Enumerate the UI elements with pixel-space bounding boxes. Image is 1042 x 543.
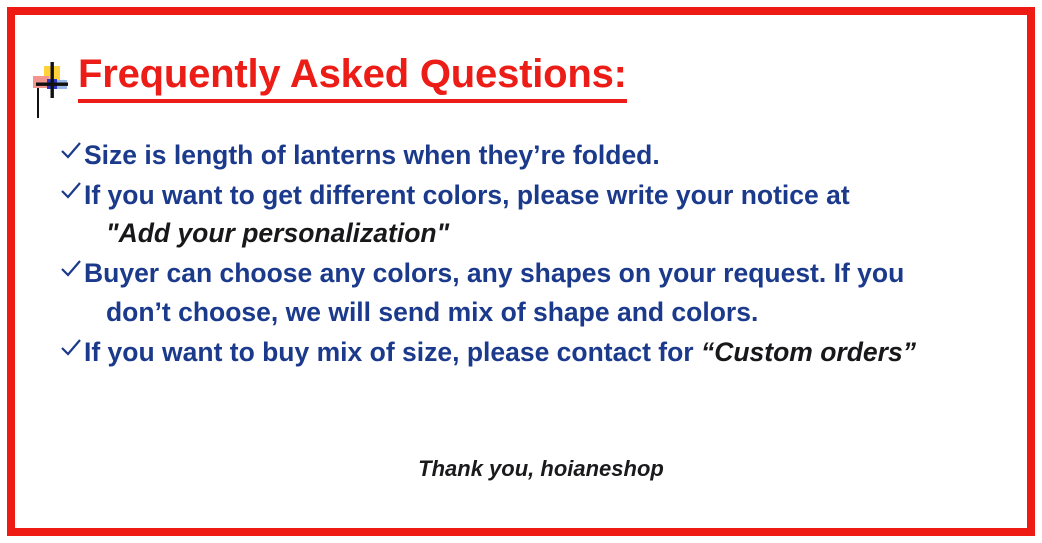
list-item-body: If you want to get different colors, ple… <box>84 176 1018 252</box>
list-item-body: If you want to buy mix of size, please c… <box>84 333 1018 371</box>
slide-title-row: Frequently Asked Questions: <box>30 54 627 103</box>
faq-line-continuation: "Add your personalization" <box>84 214 1018 252</box>
faq-line-prefix: If you want to buy mix of size, please c… <box>84 337 701 367</box>
check-icon <box>60 259 84 279</box>
check-icon <box>60 338 84 358</box>
faq-line: Buyer can choose any colors, any shapes … <box>84 254 1018 292</box>
check-icon <box>60 181 84 201</box>
faq-line-continuation: don’t choose, we will send mix of shape … <box>84 293 1018 331</box>
faq-line: Size is length of lanterns when they’re … <box>84 136 1018 174</box>
page-title: Frequently Asked Questions: <box>78 54 627 103</box>
list-item: Size is length of lanterns when they’re … <box>60 136 1018 174</box>
emphasis-text: “Custom orders” <box>701 337 916 367</box>
footer-signature: Thank you, hoianeshop <box>16 456 1026 482</box>
list-item-body: Size is length of lanterns when they’re … <box>84 136 1018 174</box>
faq-slide: Frequently Asked Questions: Size is leng… <box>0 0 1042 543</box>
list-item: If you want to buy mix of size, please c… <box>60 333 1018 371</box>
list-item: If you want to get different colors, ple… <box>60 176 1018 252</box>
list-item-body: Buyer can choose any colors, any shapes … <box>84 254 1018 330</box>
check-icon <box>60 141 84 161</box>
slide-content: Frequently Asked Questions: Size is leng… <box>16 16 1026 527</box>
clip-art-placeholder-icon <box>30 60 72 102</box>
faq-list: Size is length of lanterns when they’re … <box>60 136 1018 373</box>
faq-line: If you want to get different colors, ple… <box>84 176 1018 214</box>
list-item: Buyer can choose any colors, any shapes … <box>60 254 1018 330</box>
emphasis-text: "Add your personalization" <box>106 218 449 248</box>
faq-line: If you want to buy mix of size, please c… <box>84 333 1018 371</box>
